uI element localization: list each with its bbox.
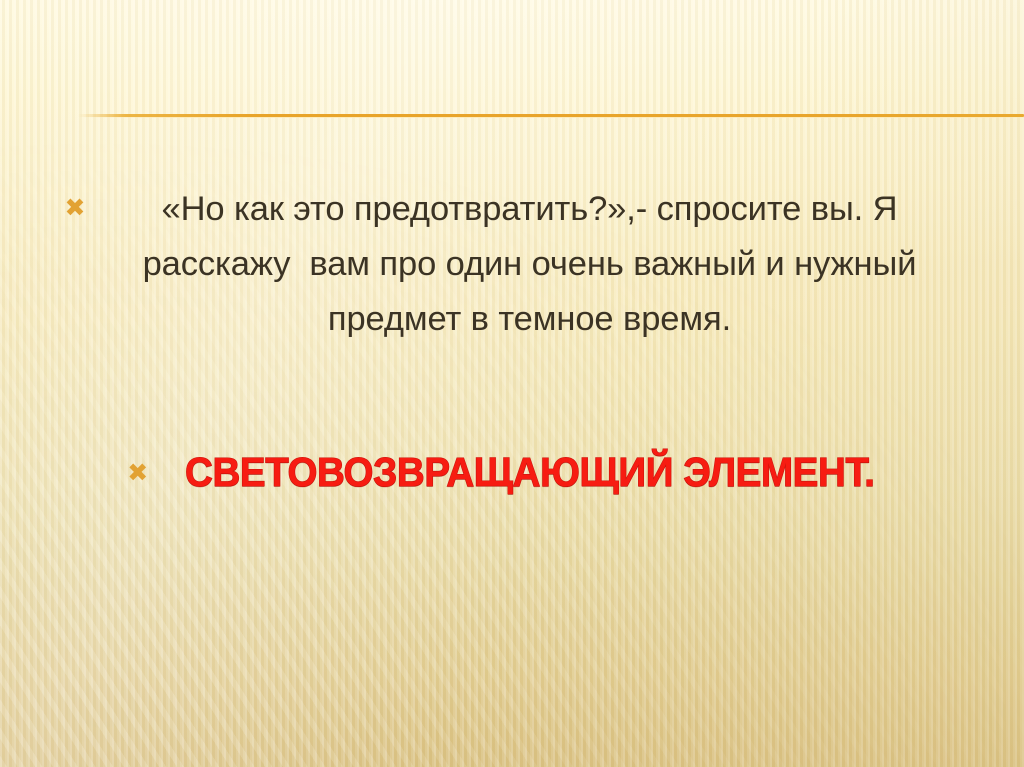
bullet-item-answer: ✖ СВЕТОВОЗВРАЩАЮЩИЙ ЭЛЕМЕНТ. <box>48 447 976 497</box>
slide-body-content: ✖ «Но как это предотвратить?»,- спросите… <box>48 182 976 497</box>
bullet-text-question: «Но как это предотвратить?»,- спросите в… <box>99 182 959 347</box>
title-divider-rule <box>78 114 1024 117</box>
bullet-x-icon: ✖ <box>65 196 86 221</box>
bullet-item-question: ✖ «Но как это предотвратить?»,- спросите… <box>48 182 976 347</box>
bullet-x-icon: ✖ <box>127 461 148 486</box>
presentation-slide: ✖ «Но как это предотвратить?»,- спросите… <box>0 0 1024 767</box>
bullet-text-answer-highlight: СВЕТОВОЗВРАЩАЮЩИЙ ЭЛЕМЕНТ. <box>185 447 875 497</box>
